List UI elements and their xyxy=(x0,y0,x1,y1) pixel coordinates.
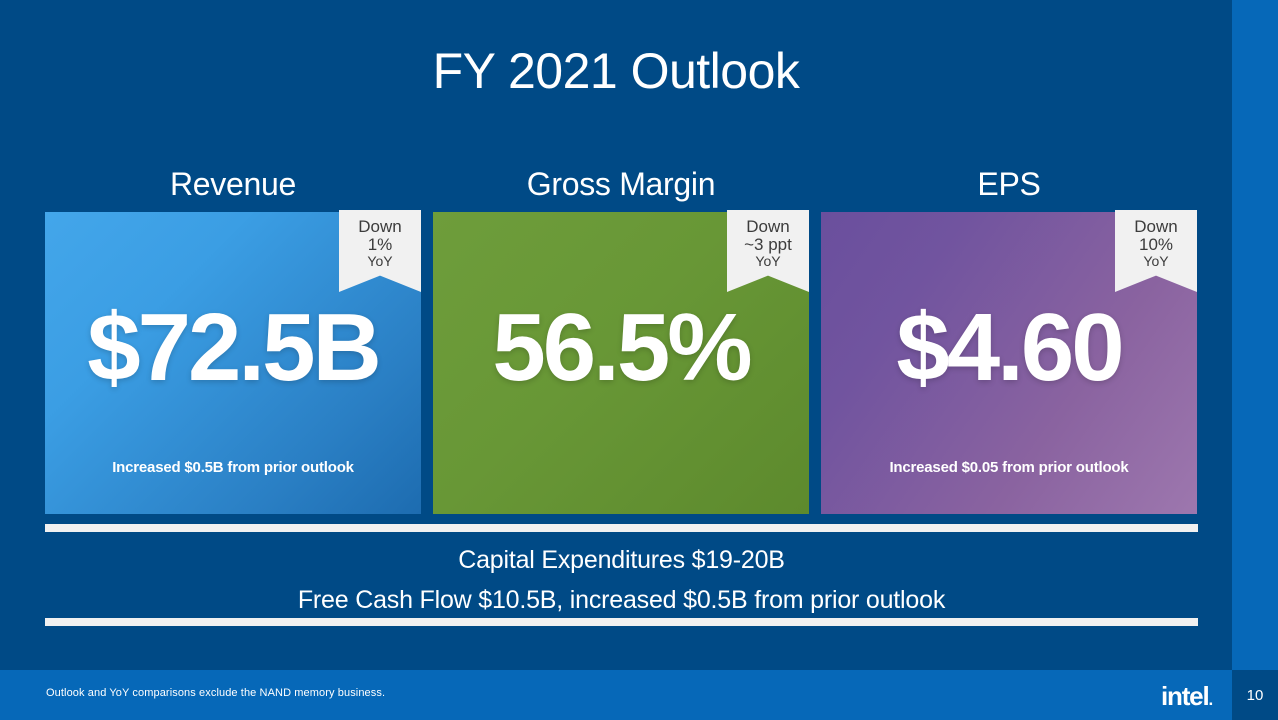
metric-note-revenue: Increased $0.5B from prior outlook xyxy=(55,459,411,476)
page-title: FY 2021 Outlook xyxy=(0,44,1232,99)
metric-heading-eps: EPS xyxy=(821,160,1197,212)
badge-direction-label: Down xyxy=(1115,218,1197,236)
metric-tile-gross-margin: 56.5% Down ~3 ppt YoY xyxy=(433,212,809,514)
badge-direction-label: Down xyxy=(339,218,421,236)
statement-free-cash-flow: Free Cash Flow $10.5B, increased $0.5B f… xyxy=(45,580,1198,620)
summary-statements: Capital Expenditures $19-20B Free Cash F… xyxy=(45,540,1198,620)
divider-top xyxy=(45,524,1198,532)
metric-value-revenue: $72.5B xyxy=(45,300,421,396)
intel-logo: intel. xyxy=(1161,681,1212,712)
badge-direction-label: Down xyxy=(727,218,809,236)
metric-value-eps: $4.60 xyxy=(821,300,1197,396)
metric-card-revenue: Revenue $72.5B Increased $0.5B from prio… xyxy=(45,160,421,514)
slide: FY 2021 Outlook Revenue $72.5B Increased… xyxy=(0,0,1278,720)
metric-note-eps: Increased $0.05 from prior outlook xyxy=(831,459,1187,476)
divider-bottom xyxy=(45,618,1198,626)
page-number: 10 xyxy=(1232,670,1278,720)
footnote-text: Outlook and YoY comparisons exclude the … xyxy=(46,687,385,699)
metric-card-gross-margin: Gross Margin 56.5% Down ~3 ppt YoY xyxy=(433,160,809,514)
statement-capex: Capital Expenditures $19-20B xyxy=(45,540,1198,580)
badge-amount-label: 10% xyxy=(1115,236,1197,254)
badge-period-label: YoY xyxy=(727,254,809,269)
metric-value-gross-margin: 56.5% xyxy=(433,300,809,396)
metric-tile-eps: $4.60 Increased $0.05 from prior outlook… xyxy=(821,212,1197,514)
metric-tile-revenue: $72.5B Increased $0.5B from prior outloo… xyxy=(45,212,421,514)
slide-footer: Outlook and YoY comparisons exclude the … xyxy=(0,670,1278,720)
intel-wordmark: intel xyxy=(1161,681,1208,711)
metrics-row: Revenue $72.5B Increased $0.5B from prio… xyxy=(45,160,1198,514)
intel-logo-dot: . xyxy=(1208,690,1212,709)
badge-amount-label: ~3 ppt xyxy=(727,236,809,254)
badge-period-label: YoY xyxy=(339,254,421,269)
right-accent-bar xyxy=(1232,0,1278,720)
metric-heading-revenue: Revenue xyxy=(45,160,421,212)
badge-period-label: YoY xyxy=(1115,254,1197,269)
metric-card-eps: EPS $4.60 Increased $0.05 from prior out… xyxy=(821,160,1197,514)
metric-heading-gross-margin: Gross Margin xyxy=(433,160,809,212)
badge-amount-label: 1% xyxy=(339,236,421,254)
right-accent-bar-inner xyxy=(1214,0,1232,720)
